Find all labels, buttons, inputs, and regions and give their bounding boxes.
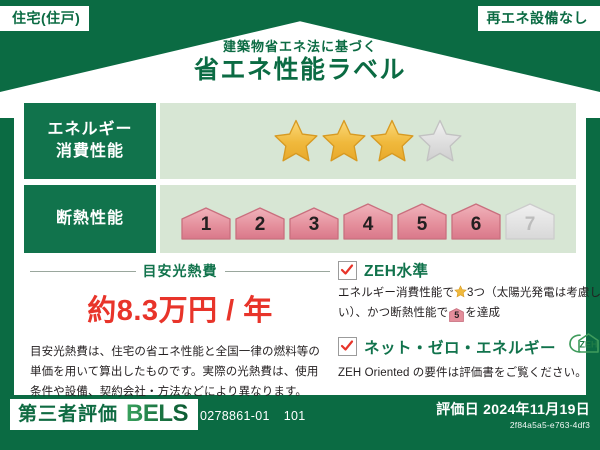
insulation-level-number: 6 — [471, 214, 482, 241]
energy-performance-label: エネルギー 消費性能 — [24, 103, 156, 179]
cost-heading: 目安光熱費 — [30, 261, 330, 281]
evaluation-info: 評価日 2024年11月19日 2f84a5a5-e763-4df3 — [436, 401, 590, 430]
inline-level-number: 5 — [449, 308, 464, 323]
star-filled-icon — [321, 118, 367, 164]
badge-building-type: 住宅(住戸) — [0, 6, 89, 31]
star-empty-icon — [417, 118, 463, 164]
bels-en-text: BELS — [126, 402, 188, 426]
cost-heading-text: 目安光熱費 — [143, 261, 218, 281]
certification-column: ZEH水準 エネルギー消費性能で3つ（太陽光発電は考慮しない）、かつ断熱性能で5… — [330, 259, 600, 402]
bels-jp-text: 第三者評価 — [18, 405, 118, 424]
main-card: エネルギー 消費性能 断熱性能 1234567 目安光熱費 — [14, 95, 586, 395]
insulation-level-4: 4 — [342, 197, 394, 241]
insulation-level-scale: 1234567 — [180, 197, 556, 241]
badge-renewable-equipment: 再エネ設備なし — [478, 6, 600, 31]
check-block-zeh-level: ZEH水準 エネルギー消費性能で3つ（太陽光発電は考慮しない）、かつ断熱性能で5… — [338, 259, 600, 323]
insulation-level-number: 1 — [201, 214, 212, 241]
net-zero-title: ネット・ゼロ・エネルギー — [364, 336, 556, 358]
insulation-level-7: 7 — [504, 197, 556, 241]
cost-note: 目安光熱費は、住宅の省エネ性能と全国一律の燃料等の単価を用いて算出したものです。… — [30, 343, 330, 402]
insulation-level-number: 2 — [255, 214, 266, 241]
title-block: 建築物省エネ法に基づく 省エネ性能ラベル — [0, 40, 600, 85]
zeh-logo-icon: ZEH ZEH Oriented — [566, 332, 600, 356]
check-icon — [340, 263, 354, 277]
zeh-body-part1: エネルギー消費性能で — [338, 287, 454, 299]
zeh-level-body: エネルギー消費性能で3つ（太陽光発電は考慮しない）、かつ断熱性能で5を達成 — [338, 284, 600, 323]
zeh-level-head: ZEH水準 — [338, 259, 600, 281]
insulation-label-text: 断熱性能 — [56, 208, 124, 230]
certificate-number: 0278861-01101 — [200, 409, 306, 423]
cost-rule-right — [225, 271, 331, 272]
insulation-performance-value: 1234567 — [160, 185, 576, 253]
insulation-level-5: 5 — [396, 197, 448, 241]
energy-performance-value — [160, 103, 576, 179]
cost-amount: 約8.3万円 / 年 — [30, 287, 330, 329]
bels-logo: 第三者評価 BELS — [10, 399, 198, 430]
inline-star-icon — [454, 285, 467, 298]
svg-text:ZEH: ZEH — [580, 340, 598, 350]
row-insulation-performance: 断熱性能 1234567 — [24, 185, 576, 253]
checkbox-net-zero[interactable] — [338, 337, 357, 356]
zeh-level-title: ZEH水準 — [364, 259, 429, 281]
cost-rule-left — [30, 271, 136, 272]
zeh-body-part3: を達成 — [465, 307, 500, 319]
energy-label-line2: 消費性能 — [56, 141, 124, 163]
checkbox-zeh-level[interactable] — [338, 261, 357, 280]
insulation-level-1: 1 — [180, 197, 232, 241]
star-rating — [273, 118, 463, 164]
energy-label-line1: エネルギー — [47, 119, 132, 141]
star-filled-icon — [369, 118, 415, 164]
page-title: 省エネ性能ラベル — [0, 57, 600, 85]
cost-column: 目安光熱費 約8.3万円 / 年 目安光熱費は、住宅の省エネ性能と全国一律の燃料… — [24, 259, 330, 402]
details-area: 目安光熱費 約8.3万円 / 年 目安光熱費は、住宅の省エネ性能と全国一律の燃料… — [24, 259, 576, 402]
insulation-level-number: 7 — [525, 214, 536, 241]
net-zero-body: ZEH Oriented の要件は評価書をご覧ください。 — [338, 364, 600, 384]
cert-number-suffix: 101 — [284, 409, 306, 423]
check-icon — [340, 339, 354, 353]
inline-level-badge: 5 — [449, 308, 464, 322]
insulation-level-6: 6 — [450, 197, 502, 241]
insulation-level-number: 4 — [363, 214, 374, 241]
star-filled-icon — [273, 118, 319, 164]
footer: 第三者評価 BELS 0278861-01101 評価日 2024年11月19日… — [0, 395, 600, 450]
title-subtitle: 建築物省エネ法に基づく — [0, 40, 600, 53]
insulation-level-3: 3 — [288, 197, 340, 241]
insulation-level-2: 2 — [234, 197, 286, 241]
zeh-oriented-logo: ZEH ZEH Oriented — [566, 332, 600, 361]
cert-number-main: 0278861-01 — [200, 409, 270, 423]
energy-performance-label: 住宅(住戸) 再エネ設備なし 建築物省エネ法に基づく 省エネ性能ラベル エネルギ… — [0, 0, 600, 450]
insulation-level-number: 3 — [309, 214, 320, 241]
evaluation-hash: 2f84a5a5-e763-4df3 — [436, 420, 590, 430]
row-energy-performance: エネルギー 消費性能 — [24, 95, 576, 179]
check-block-net-zero: ネット・ゼロ・エネルギー ZEH ZEH Oriented — [338, 332, 600, 384]
evaluation-date: 評価日 2024年11月19日 — [436, 401, 590, 418]
insulation-level-number: 5 — [417, 214, 428, 241]
net-zero-head: ネット・ゼロ・エネルギー ZEH ZEH Oriented — [338, 332, 600, 361]
insulation-performance-label: 断熱性能 — [24, 185, 156, 253]
